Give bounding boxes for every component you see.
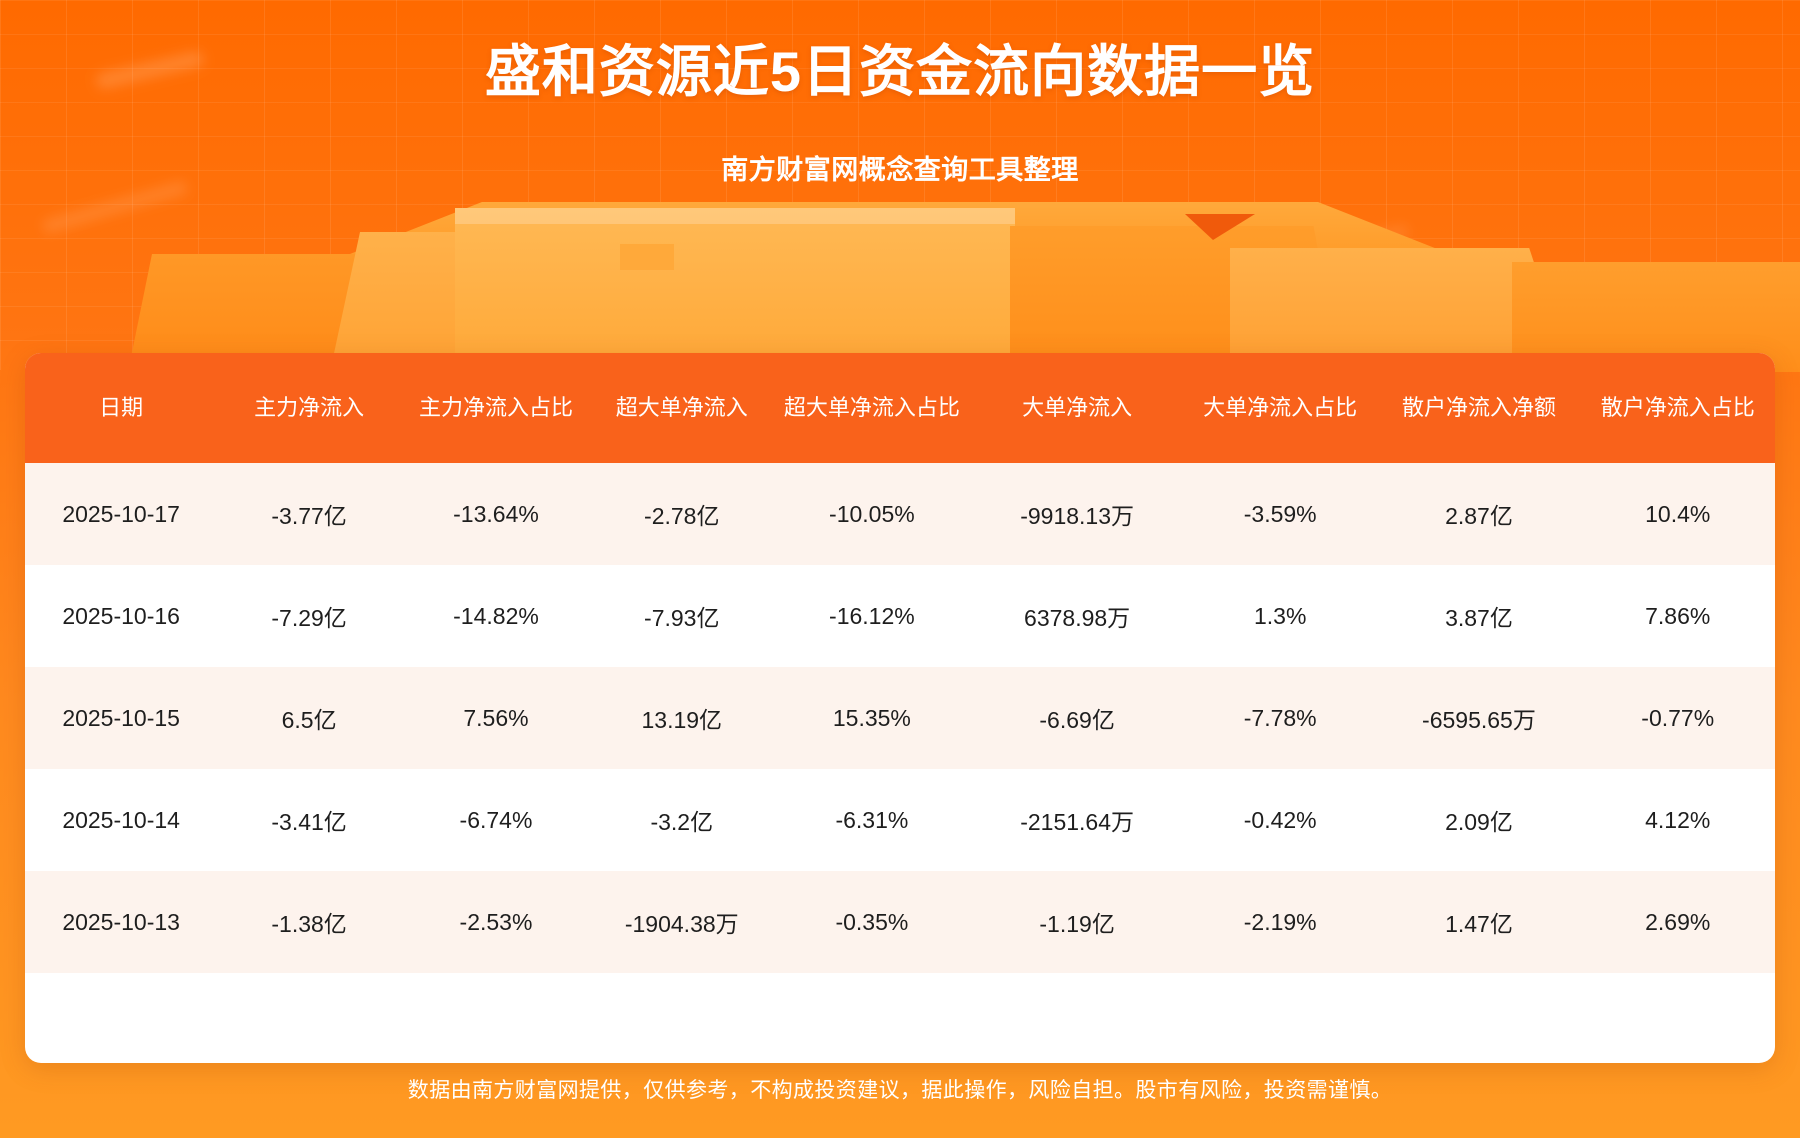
cell-retail-amount: 1.47亿: [1377, 871, 1580, 973]
cell-main-net-inflow: 6.5亿: [217, 667, 401, 769]
table-row: 2025-10-13 -1.38亿 -2.53% -1904.38万 -0.35…: [25, 871, 1775, 973]
table-row: 2025-10-15 6.5亿 7.56% 13.19亿 15.35% -6.6…: [25, 667, 1775, 769]
podium-block-center-highlight: [455, 208, 1015, 224]
table-header: 日期 主力净流入 主力净流入占比 超大单净流入 超大单净流入占比 大单净流入 大…: [25, 353, 1775, 463]
podium-block-top: [350, 202, 1450, 254]
cell-retail-ratio: 2.69%: [1580, 871, 1775, 973]
table-header-row: 日期 主力净流入 主力净流入占比 超大单净流入 超大单净流入占比 大单净流入 大…: [25, 353, 1775, 463]
cell-large-net-inflow: -9918.13万: [971, 463, 1183, 565]
cell-large-ratio: -0.42%: [1183, 769, 1377, 871]
cell-date: 2025-10-14: [25, 769, 217, 871]
cell-main-ratio: -13.64%: [401, 463, 591, 565]
cell-main-net-inflow: -3.77亿: [217, 463, 401, 565]
cell-large-net-inflow: -6.69亿: [971, 667, 1183, 769]
cell-xl-net-inflow: -3.2亿: [591, 769, 772, 871]
cell-main-ratio: -2.53%: [401, 871, 591, 973]
column-header-main-net-inflow: 主力净流入: [217, 353, 401, 463]
cell-retail-amount: 3.87亿: [1377, 565, 1580, 667]
podium-block-notch: [620, 244, 674, 270]
podium-block-left-inner: [330, 232, 630, 372]
cell-xl-ratio: -16.12%: [773, 565, 972, 667]
cell-main-net-inflow: -1.38亿: [217, 871, 401, 973]
page-subtitle: 南方财富网概念查询工具整理: [0, 148, 1800, 187]
cell-retail-amount: 2.87亿: [1377, 463, 1580, 565]
poster-page: 盛和资源近5日资金流向数据一览 南方财富网概念查询工具整理 南方财富网 outh…: [0, 0, 1800, 1138]
column-header-large-order-net-inflow: 大单净流入: [971, 353, 1183, 463]
cell-xl-ratio: -6.31%: [773, 769, 972, 871]
column-header-xl-order-ratio: 超大单净流入占比: [773, 353, 972, 463]
podium-block-wedge: [1185, 214, 1255, 240]
cell-large-ratio: -3.59%: [1183, 463, 1377, 565]
cell-xl-net-inflow: -2.78亿: [591, 463, 772, 565]
cell-retail-ratio: -0.77%: [1580, 667, 1775, 769]
cell-main-net-inflow: -3.41亿: [217, 769, 401, 871]
cell-large-ratio: 1.3%: [1183, 565, 1377, 667]
table-row: 2025-10-14 -3.41亿 -6.74% -3.2亿 -6.31% -2…: [25, 769, 1775, 871]
cell-retail-ratio: 4.12%: [1580, 769, 1775, 871]
table-row: 2025-10-16 -7.29亿 -14.82% -7.93亿 -16.12%…: [25, 565, 1775, 667]
column-header-main-net-inflow-ratio: 主力净流入占比: [401, 353, 591, 463]
cell-main-ratio: -14.82%: [401, 565, 591, 667]
podium-illustration: [0, 196, 1800, 372]
column-header-retail-ratio: 散户净流入占比: [1580, 353, 1775, 463]
podium-block-center: [455, 208, 1015, 372]
cell-main-net-inflow: -7.29亿: [217, 565, 401, 667]
cell-retail-amount: 2.09亿: [1377, 769, 1580, 871]
table-row: 2025-10-17 -3.77亿 -13.64% -2.78亿 -10.05%…: [25, 463, 1775, 565]
cell-xl-net-inflow: 13.19亿: [591, 667, 772, 769]
column-header-xl-order-net-inflow: 超大单净流入: [591, 353, 772, 463]
cell-large-ratio: -7.78%: [1183, 667, 1377, 769]
fund-flow-table: 日期 主力净流入 主力净流入占比 超大单净流入 超大单净流入占比 大单净流入 大…: [25, 353, 1775, 973]
column-header-retail-net-amount: 散户净流入净额: [1377, 353, 1580, 463]
cell-xl-ratio: -0.35%: [773, 871, 972, 973]
cell-xl-ratio: -10.05%: [773, 463, 972, 565]
cell-date: 2025-10-17: [25, 463, 217, 565]
cell-xl-ratio: 15.35%: [773, 667, 972, 769]
cell-large-net-inflow: 6378.98万: [971, 565, 1183, 667]
cell-large-ratio: -2.19%: [1183, 871, 1377, 973]
cell-retail-ratio: 7.86%: [1580, 565, 1775, 667]
cell-xl-net-inflow: -1904.38万: [591, 871, 772, 973]
cell-large-net-inflow: -2151.64万: [971, 769, 1183, 871]
cell-date: 2025-10-13: [25, 871, 217, 973]
cell-large-net-inflow: -1.19亿: [971, 871, 1183, 973]
cell-main-ratio: 7.56%: [401, 667, 591, 769]
cell-xl-net-inflow: -7.93亿: [591, 565, 772, 667]
column-header-large-order-ratio: 大单净流入占比: [1183, 353, 1377, 463]
page-title: 盛和资源近5日资金流向数据一览: [0, 40, 1800, 104]
cell-date: 2025-10-15: [25, 667, 217, 769]
cell-main-ratio: -6.74%: [401, 769, 591, 871]
cell-retail-ratio: 10.4%: [1580, 463, 1775, 565]
light-streak-decoration: [41, 180, 189, 235]
footer-disclaimer: 数据由南方财富网提供，仅供参考，不构成投资建议，据此操作，风险自担。股市有风险，…: [0, 1074, 1800, 1104]
cell-retail-amount: -6595.65万: [1377, 667, 1580, 769]
light-streak-decoration: [1290, 224, 1410, 263]
table-body: 2025-10-17 -3.77亿 -13.64% -2.78亿 -10.05%…: [25, 463, 1775, 973]
podium-block-right-inner: [1010, 226, 1340, 372]
data-table-card: 南方财富网 outhmoney.com 日期 主力净流入 主力净流入占比 超大单…: [25, 353, 1775, 1063]
cell-date: 2025-10-16: [25, 565, 217, 667]
column-header-date: 日期: [25, 353, 217, 463]
